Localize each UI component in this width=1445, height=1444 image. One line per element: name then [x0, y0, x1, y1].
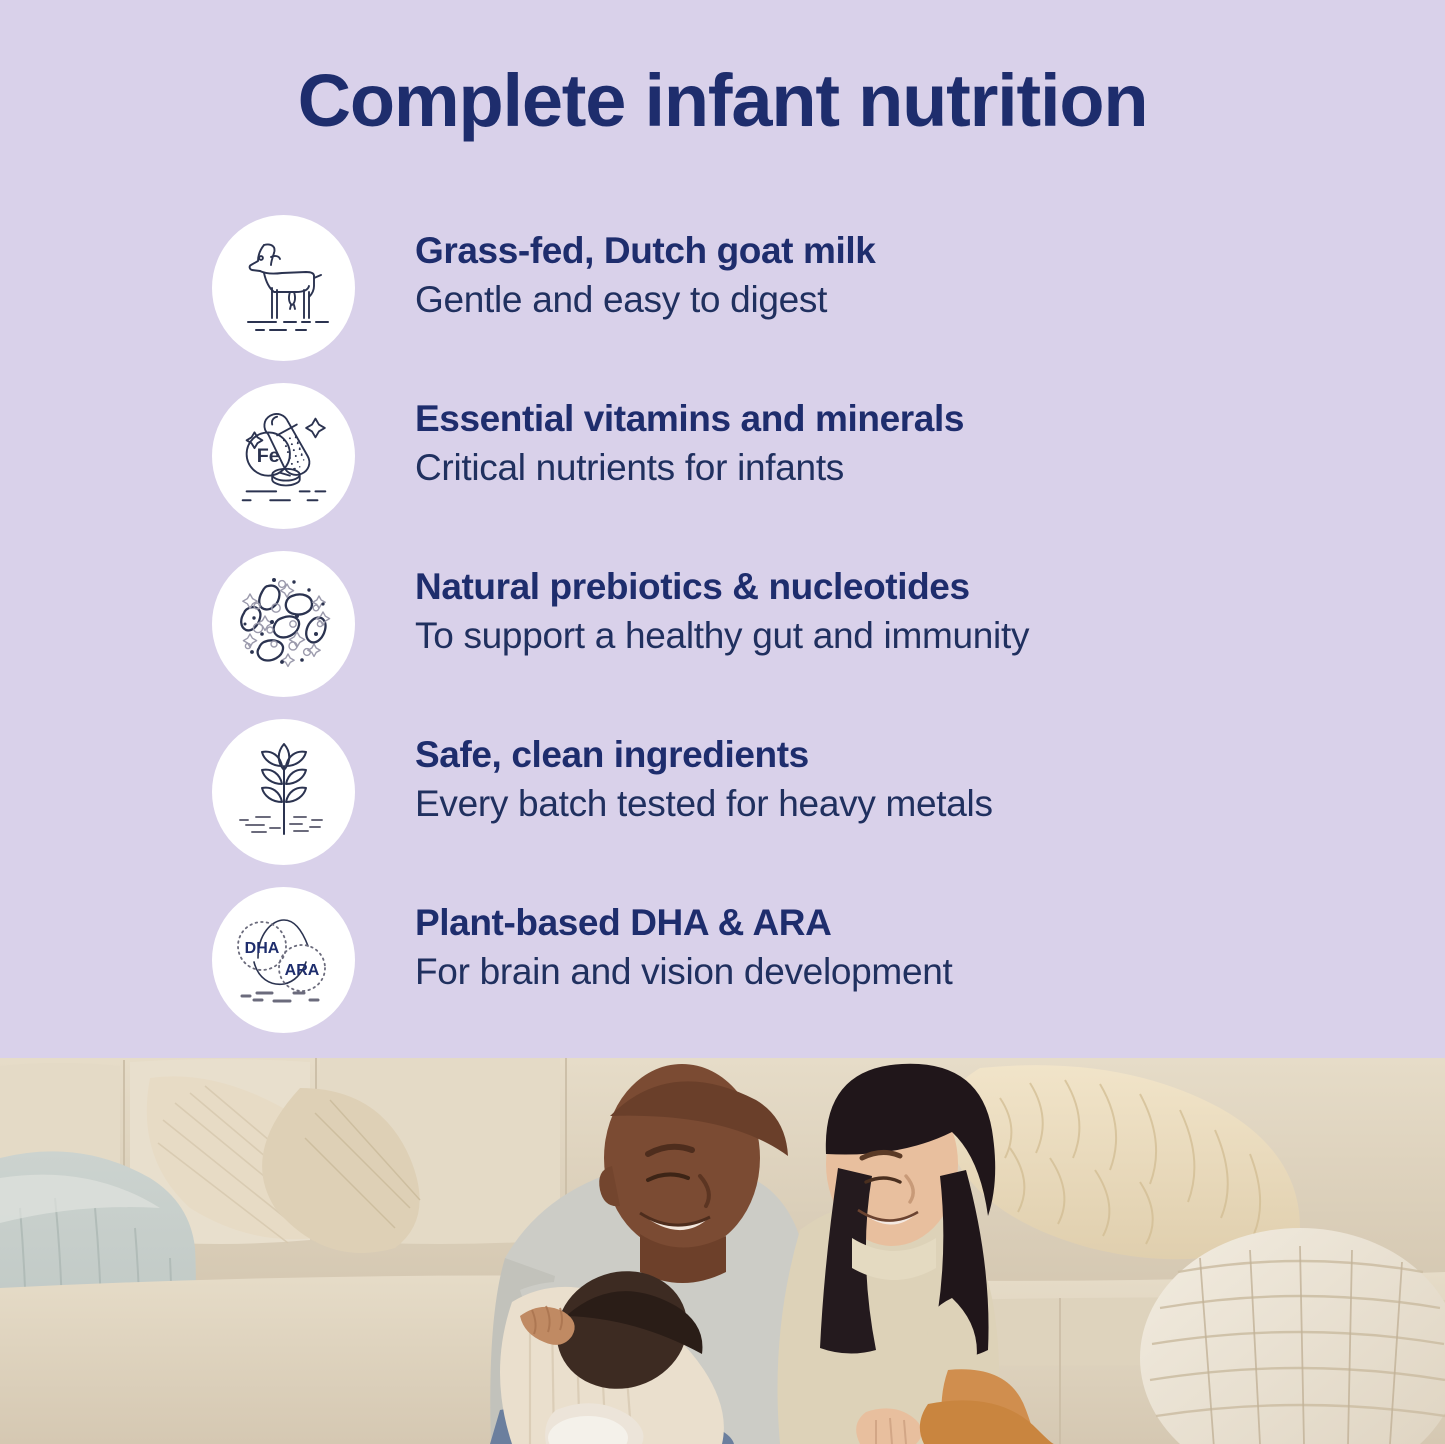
feature-row: Natural prebiotics & nucleotides To supp…: [0, 549, 1445, 717]
feature-subtitle: Gentle and easy to digest: [415, 278, 875, 322]
vitamin-capsule-icon: Fe: [212, 383, 355, 529]
dha-label: DHA: [244, 940, 279, 957]
ara-label: ARA: [284, 962, 319, 979]
family-photo-illustration: [0, 1058, 1445, 1444]
probiotic-bacteria-icon: [212, 551, 355, 697]
feature-text: Grass-fed, Dutch goat milk Gentle and ea…: [415, 229, 875, 322]
fe-label: Fe: [256, 445, 279, 467]
family-photo: [0, 1058, 1445, 1444]
feature-title: Plant-based DHA & ARA: [415, 901, 953, 945]
feature-text: Natural prebiotics & nucleotides To supp…: [415, 565, 1029, 658]
feature-title: Essential vitamins and minerals: [415, 397, 964, 441]
goat-icon: [212, 215, 355, 361]
feature-text: Essential vitamins and minerals Critical…: [415, 397, 964, 490]
feature-row: DHA ARA Plant-based DHA &: [0, 885, 1445, 1053]
feature-title: Natural prebiotics & nucleotides: [415, 565, 1029, 609]
feature-subtitle: Every batch tested for heavy metals: [415, 782, 993, 826]
infographic-page: Complete infant nutrition: [0, 0, 1445, 1444]
feature-row: Fe: [0, 381, 1445, 549]
feature-row: Safe, clean ingredients Every batch test…: [0, 717, 1445, 885]
dha-ara-icon: DHA ARA: [212, 887, 355, 1033]
feature-title: Safe, clean ingredients: [415, 733, 993, 777]
feature-subtitle: For brain and vision development: [415, 950, 953, 994]
feature-title: Grass-fed, Dutch goat milk: [415, 229, 875, 273]
feature-text: Plant-based DHA & ARA For brain and visi…: [415, 901, 953, 994]
feature-subtitle: To support a healthy gut and immunity: [415, 614, 1029, 658]
page-title: Complete infant nutrition: [0, 62, 1445, 140]
feature-list: Grass-fed, Dutch goat milk Gentle and ea…: [0, 213, 1445, 1053]
wheat-stalk-icon: [212, 719, 355, 865]
feature-row: Grass-fed, Dutch goat milk Gentle and ea…: [0, 213, 1445, 381]
feature-text: Safe, clean ingredients Every batch test…: [415, 733, 993, 826]
feature-subtitle: Critical nutrients for infants: [415, 446, 964, 490]
